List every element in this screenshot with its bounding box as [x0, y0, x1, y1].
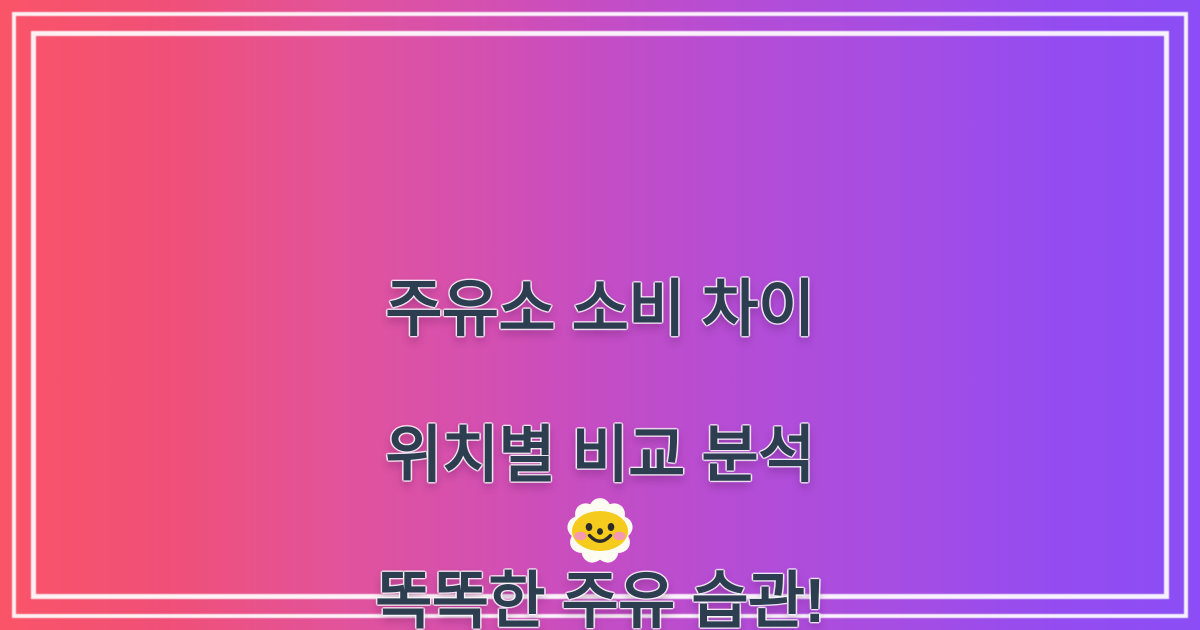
thumbnail-card: 주유소 소비 차이 위치별 비교 분석 똑똑한 주유 습관!: [0, 0, 1200, 630]
flower-nose: [597, 528, 603, 535]
flower-cheek-left: [574, 532, 586, 540]
blossom-flower-icon: [535, 488, 665, 574]
headline-line-2: 위치별 비교 분석: [0, 419, 1200, 492]
headline-line-1: 주유소 소비 차이: [0, 273, 1200, 346]
headline-line-3: 똑똑한 주유 습관!: [0, 565, 1200, 630]
flower-cheek-right: [613, 532, 625, 540]
flower-eye-right: [608, 523, 615, 531]
flower-eye-left: [586, 523, 593, 531]
card-content: 주유소 소비 차이 위치별 비교 분석 똑똑한 주유 습관!: [0, 0, 1200, 630]
decoration-row: [0, 488, 1200, 574]
